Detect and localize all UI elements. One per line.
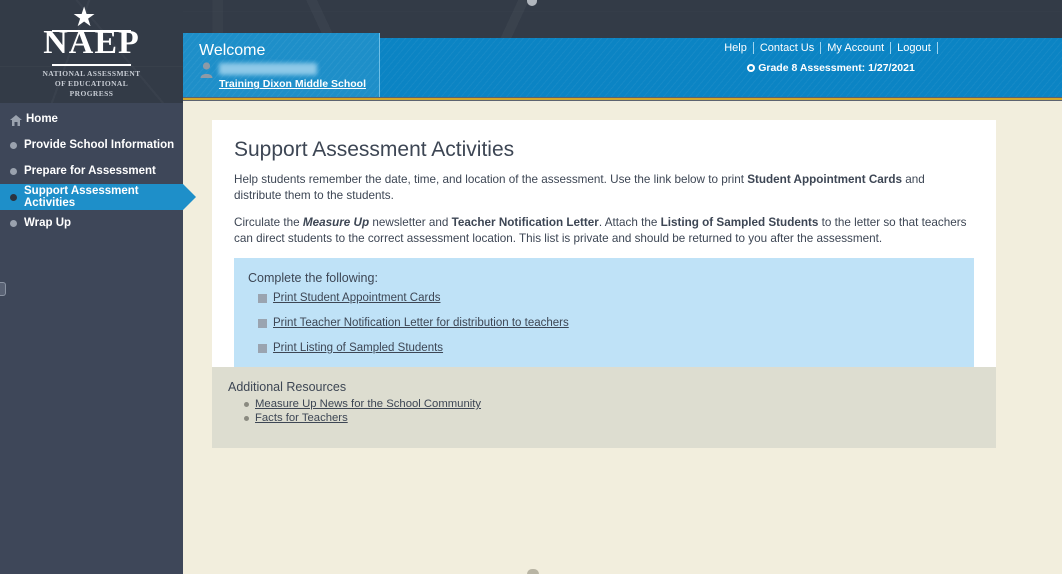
task-item[interactable]: Print Student Appointment Cards xyxy=(248,292,974,304)
dot-icon xyxy=(10,142,17,149)
facts-for-teachers-link[interactable]: Facts for Teachers xyxy=(255,412,348,424)
my-account-link[interactable]: My Account xyxy=(821,42,891,54)
user-name-redacted xyxy=(219,63,317,75)
sidebar-item-wrap-up[interactable]: Wrap Up xyxy=(0,210,183,236)
task-item[interactable]: Print Teacher Notification Letter for di… xyxy=(248,317,974,329)
dot-icon xyxy=(10,194,17,201)
intro-paragraph-2: Circulate the Measure Up newsletter and … xyxy=(234,215,974,247)
paragraph2-part2: newsletter and xyxy=(369,216,452,229)
logo-subtitle-line1: NATIONAL ASSESSMENT xyxy=(42,69,140,78)
sidebar-item-label: Provide School Information xyxy=(24,139,174,151)
scroll-indicator-bottom[interactable] xyxy=(527,569,539,574)
square-bullet-icon xyxy=(258,344,267,353)
tasks-panel-heading: Complete the following: xyxy=(248,271,974,285)
welcome-box: Welcome Training Dixon Middle School xyxy=(183,33,380,101)
logo-subtitle-line3: PROGRESS xyxy=(70,89,114,98)
paragraph2-part1: Circulate the xyxy=(234,216,303,229)
contact-us-link[interactable]: Contact Us xyxy=(754,42,821,54)
list-item[interactable]: Measure Up News for the School Community xyxy=(228,398,996,410)
sidebar-item-support-assessment-activities[interactable]: Support Assessment Activities xyxy=(0,184,183,210)
resources-heading: Additional Resources xyxy=(228,380,996,394)
print-listing-of-sampled-students-link[interactable]: Print Listing of Sampled Students xyxy=(273,342,443,354)
logo-subtitle-line2: OF EDUCATIONAL xyxy=(55,79,128,88)
additional-resources-panel: Additional Resources Measure Up News for… xyxy=(212,367,996,448)
assessment-circle-icon xyxy=(747,64,755,72)
tasks-panel: Complete the following: Print Student Ap… xyxy=(234,258,974,382)
paragraph2-part3: . Attach the xyxy=(599,216,661,229)
sidebar-item-label: Home xyxy=(26,113,58,125)
task-item[interactable]: Print Listing of Sampled Students xyxy=(248,342,974,354)
assessment-text: Grade 8 Assessment: 1/27/2021 xyxy=(758,62,915,74)
welcome-title: Welcome xyxy=(199,42,265,60)
main-card: Support Assessment Activities Help stude… xyxy=(212,120,996,398)
logo-rule-bottom xyxy=(52,64,131,66)
logout-link[interactable]: Logout xyxy=(891,42,938,54)
print-student-appointment-cards-link[interactable]: Print Student Appointment Cards xyxy=(273,292,441,304)
sidebar-item-label: Prepare for Assessment xyxy=(24,165,156,177)
naep-logo: ★ NAEP NATIONAL ASSESSMENT OF EDUCATIONA… xyxy=(0,0,183,103)
sidebar-item-home[interactable]: Home xyxy=(0,106,183,132)
left-panel: ★ NAEP NATIONAL ASSESSMENT OF EDUCATIONA… xyxy=(0,0,183,574)
dot-bullet-icon xyxy=(244,402,249,407)
paragraph1-bold1: Student Appointment Cards xyxy=(747,173,902,186)
gold-divider xyxy=(183,97,1062,101)
dot-icon xyxy=(10,220,17,227)
content-area: Support Assessment Activities Help stude… xyxy=(183,101,1062,574)
print-teacher-notification-letter-link[interactable]: Print Teacher Notification Letter for di… xyxy=(273,317,569,329)
logo-naep-text: NAEP xyxy=(0,26,183,60)
measure-up-news-link[interactable]: Measure Up News for the School Community xyxy=(255,398,481,410)
paragraph2-italic1: Measure Up xyxy=(303,216,369,229)
sidebar-item-label: Wrap Up xyxy=(24,217,71,229)
square-bullet-icon xyxy=(258,294,267,303)
square-bullet-icon xyxy=(258,319,267,328)
list-item[interactable]: Facts for Teachers xyxy=(228,412,996,424)
paragraph2-bold1: Teacher Notification Letter xyxy=(452,216,599,229)
school-name-link[interactable]: Training Dixon Middle School xyxy=(219,78,366,90)
assessment-info: Grade 8 Assessment: 1/27/2021 xyxy=(600,62,1062,74)
intro-paragraph-1: Help students remember the date, time, a… xyxy=(234,172,974,204)
dot-icon xyxy=(10,168,17,175)
sidebar-item-label: Support Assessment Activities xyxy=(24,185,183,209)
home-icon xyxy=(10,115,22,126)
logo-subtitle: NATIONAL ASSESSMENT OF EDUCATIONAL PROGR… xyxy=(0,69,183,99)
sidebar-collapse-handle[interactable] xyxy=(0,282,6,296)
utility-links: HelpContact UsMy AccountLogout xyxy=(600,42,1062,54)
sidebar-item-provide-school-information[interactable]: Provide School Information xyxy=(0,132,183,158)
sidebar-item-prepare-for-assessment[interactable]: Prepare for Assessment xyxy=(0,158,183,184)
paragraph1-part1: Help students remember the date, time, a… xyxy=(234,173,747,186)
page-title: Support Assessment Activities xyxy=(234,138,974,162)
help-link[interactable]: Help xyxy=(724,42,754,54)
paragraph2-bold2: Listing of Sampled Students xyxy=(661,216,819,229)
dot-bullet-icon xyxy=(244,416,249,421)
user-avatar-icon xyxy=(200,62,213,78)
sidebar-nav: Home Provide School Information Prepare … xyxy=(0,106,183,236)
